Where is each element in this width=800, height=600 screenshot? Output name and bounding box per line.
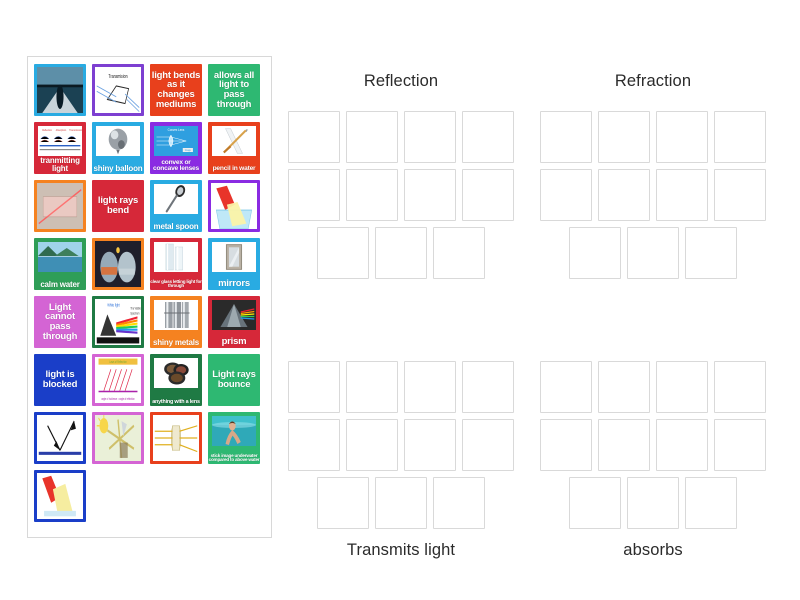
drop-zone-refraction[interactable] (598, 169, 650, 221)
drop-zone-refraction[interactable] (598, 111, 650, 163)
drop-zone-refraction[interactable] (685, 227, 737, 279)
drop-zone-reflection[interactable] (317, 227, 369, 279)
tile-grid: Transmisionlight bends as it changes med… (34, 64, 260, 522)
category-title-absorbs: absorbs (540, 541, 766, 560)
category-absorbs: absorbs (540, 361, 766, 560)
draggable-tile[interactable]: prism (208, 296, 260, 348)
sun-rays-scatter-image (95, 415, 141, 461)
drop-zone-reflection[interactable] (288, 169, 340, 221)
tile-label: calm water (34, 281, 86, 290)
metal-cylinders-image (154, 300, 198, 330)
draggable-tile[interactable]: stick image underwater compared to above… (208, 412, 260, 464)
draggable-tile[interactable]: Light cannot pass through (34, 296, 86, 348)
tile-label: clear glass letting light for through (150, 280, 202, 290)
drop-zone-grid-refraction[interactable] (540, 111, 766, 279)
silver-balloon-image (96, 126, 140, 156)
drop-zone-transmits-light[interactable] (288, 361, 340, 413)
drop-zone-reflection[interactable] (462, 111, 514, 163)
metal-spoon-image (154, 184, 198, 214)
camera-lenses-image (154, 358, 198, 388)
svg-text:Convex Lens: Convex Lens (168, 128, 185, 132)
tile-label: prism (208, 337, 260, 348)
concave-lens-rays-image (153, 415, 199, 461)
drop-zone-transmits-light[interactable] (462, 419, 514, 471)
draggable-tile[interactable] (34, 412, 86, 464)
category-title-transmits-light: Transmits light (288, 541, 514, 560)
drop-zone-row (540, 169, 766, 221)
drop-zone-transmits-light[interactable] (346, 361, 398, 413)
svg-text:angle of incidence = angle of: angle of incidence = angle of reflection (101, 396, 135, 401)
draggable-tile[interactable]: Laws of Reflectionangle of incidence = a… (92, 354, 144, 406)
drop-zone-reflection[interactable] (346, 169, 398, 221)
laser-through-block-image (37, 183, 83, 229)
drop-zone-transmits-light[interactable] (317, 477, 369, 529)
drop-zone-refraction[interactable] (540, 111, 592, 163)
draggable-tile[interactable]: Convex LensImageconvex or concave lenses (150, 122, 202, 174)
svg-text:Reflection: Reflection (42, 129, 52, 132)
drop-zone-absorbs[interactable] (598, 419, 650, 471)
drop-zone-reflection[interactable] (288, 111, 340, 163)
draggable-tile[interactable]: ReflectionAbsorptionTransmissiontranmitt… (34, 122, 86, 174)
girl-in-pool-image (212, 416, 256, 446)
mirror-image (212, 242, 256, 272)
drop-zone-row (540, 111, 766, 163)
category-reflection: Reflection (288, 72, 514, 279)
tile-label: metal spoon (150, 223, 202, 232)
drop-zone-row (540, 361, 766, 413)
svg-text:F: F (246, 129, 248, 133)
svg-text:Laws of Reflection: Laws of Reflection (109, 359, 127, 364)
drop-zone-refraction[interactable] (627, 227, 679, 279)
svg-text:Spectrum: Spectrum (130, 311, 139, 316)
drop-zone-row (288, 477, 514, 529)
drop-zone-refraction[interactable] (540, 169, 592, 221)
drop-zone-row (288, 419, 514, 471)
tile-label: allows all light to pass through (208, 71, 260, 110)
drop-zone-refraction[interactable] (656, 111, 708, 163)
draggable-tile[interactable] (92, 238, 144, 290)
drop-zone-grid-absorbs[interactable] (540, 361, 766, 529)
drop-zone-absorbs[interactable] (714, 419, 766, 471)
svg-text:Image: Image (185, 149, 192, 152)
tile-label: stick image underwater compared to above… (208, 454, 260, 464)
drop-zone-reflection[interactable] (404, 111, 456, 163)
draggable-tile[interactable]: allows all light to pass through (208, 64, 260, 116)
prism-rainbow-image (212, 300, 256, 330)
drop-zone-absorbs[interactable] (540, 419, 592, 471)
drop-zone-row (288, 361, 514, 413)
light-refracting-in-water-image (211, 183, 257, 229)
prism-spectrum-diagram-image: White lightThe VisibleSpectrum (95, 299, 141, 345)
drop-zone-refraction[interactable] (714, 169, 766, 221)
drop-zone-absorbs[interactable] (656, 361, 708, 413)
tile-label: tranmitting light (34, 157, 86, 174)
tile-label: convex or concave lenses (150, 160, 202, 174)
drop-zone-absorbs[interactable] (685, 477, 737, 529)
drop-zone-transmits-light[interactable] (404, 361, 456, 413)
category-refraction: Refraction (540, 72, 766, 279)
light-rays-diagram-image: Laws of Reflectionangle of incidence = a… (95, 357, 141, 403)
draggable-tile[interactable] (34, 470, 86, 522)
drop-zone-absorbs[interactable] (540, 361, 592, 413)
draggable-tile[interactable] (34, 64, 86, 116)
reflection-arrow-diagram-image (37, 415, 83, 461)
tile-label: light bends as it changes mediums (150, 71, 202, 110)
drop-zone-absorbs[interactable] (656, 419, 708, 471)
drop-zone-transmits-light[interactable] (375, 477, 427, 529)
draggable-tile[interactable]: metal spoon (150, 180, 202, 232)
drop-zone-transmits-light[interactable] (288, 419, 340, 471)
draggable-tile[interactable]: anything with a lens (150, 354, 202, 406)
tile-label: light is blocked (34, 370, 86, 389)
draggable-tile[interactable]: light rays bend (92, 180, 144, 232)
tile-label: Light cannot pass through (34, 303, 86, 342)
svg-text:Transmission: Transmission (69, 129, 82, 132)
tile-label: shiny metals (150, 339, 202, 348)
svg-text:Absorption: Absorption (56, 129, 67, 132)
tile-label: pencil in water (208, 166, 260, 174)
tile-label: anything with a lens (150, 400, 202, 407)
unsorted-tile-tray: Transmisionlight bends as it changes med… (27, 56, 272, 538)
drop-zone-transmits-light[interactable] (346, 419, 398, 471)
drop-zone-row (288, 169, 514, 221)
draggable-tile[interactable] (150, 412, 202, 464)
draggable-tile[interactable]: shiny balloon (92, 122, 144, 174)
drop-zone-absorbs[interactable] (598, 361, 650, 413)
drop-zone-row (288, 227, 514, 279)
drop-zone-transmits-light[interactable] (433, 477, 485, 529)
draggable-tile[interactable]: Fpencil in water (208, 122, 260, 174)
drop-zone-row (540, 477, 766, 529)
draggable-tile[interactable]: mirrors (208, 238, 260, 290)
category-transmits-light: Transmits light (288, 361, 514, 560)
tile-label: shiny balloon (92, 165, 144, 174)
convex-lens-diagram-image: Convex LensImage (154, 126, 198, 156)
draggable-tile[interactable]: shiny metals (150, 296, 202, 348)
clear-glass-image (154, 242, 198, 272)
draggable-tile[interactable]: light is blocked (34, 354, 86, 406)
glass-bowls-image (95, 241, 141, 287)
draggable-tile[interactable] (208, 180, 260, 232)
drop-zone-grid-reflection[interactable] (288, 111, 514, 279)
drop-zone-transmits-light[interactable] (404, 419, 456, 471)
pencil-in-glass-image: F (212, 126, 256, 156)
tile-label: light rays bend (92, 196, 144, 215)
drop-zone-reflection[interactable] (433, 227, 485, 279)
drop-zone-reflection[interactable] (346, 111, 398, 163)
draggable-tile[interactable]: Light rays bounce (208, 354, 260, 406)
drop-zone-absorbs[interactable] (569, 477, 621, 529)
drop-zone-refraction[interactable] (569, 227, 621, 279)
drop-zone-reflection[interactable] (462, 169, 514, 221)
tile-label: Light rays bounce (208, 370, 260, 389)
drop-zone-refraction[interactable] (714, 111, 766, 163)
draggable-tile[interactable]: White lightThe VisibleSpectrum (92, 296, 144, 348)
category-title-reflection: Reflection (288, 72, 514, 91)
drop-zone-row (540, 227, 766, 279)
drop-zone-grid-transmits-light[interactable] (288, 361, 514, 529)
tile-label: mirrors (208, 279, 260, 290)
transmission-chart-image: ReflectionAbsorptionTransmission (38, 126, 82, 156)
drop-zone-absorbs[interactable] (627, 477, 679, 529)
drop-zone-transmits-light[interactable] (462, 361, 514, 413)
drop-zone-reflection[interactable] (375, 227, 427, 279)
category-title-refraction: Refraction (540, 72, 766, 91)
calm-lake-image (38, 242, 82, 272)
draggable-tile[interactable]: clear glass letting light for through (150, 238, 202, 290)
svg-text:White light: White light (107, 303, 120, 308)
drop-zone-row (540, 419, 766, 471)
draggable-tile[interactable] (92, 412, 144, 464)
drop-zone-refraction[interactable] (656, 169, 708, 221)
road-at-night-reflection-image (37, 67, 83, 113)
red-arrow-bending-image (37, 473, 83, 519)
svg-text:Transmision: Transmision (108, 73, 127, 79)
draggable-tile[interactable] (34, 180, 86, 232)
drop-zone-row (288, 111, 514, 163)
draggable-tile[interactable]: calm water (34, 238, 86, 290)
drop-zone-reflection[interactable] (404, 169, 456, 221)
draggable-tile[interactable]: Transmision (92, 64, 144, 116)
transmission-diagram-image: Transmision (95, 67, 141, 113)
draggable-tile[interactable]: light bends as it changes mediums (150, 64, 202, 116)
drop-zone-absorbs[interactable] (714, 361, 766, 413)
